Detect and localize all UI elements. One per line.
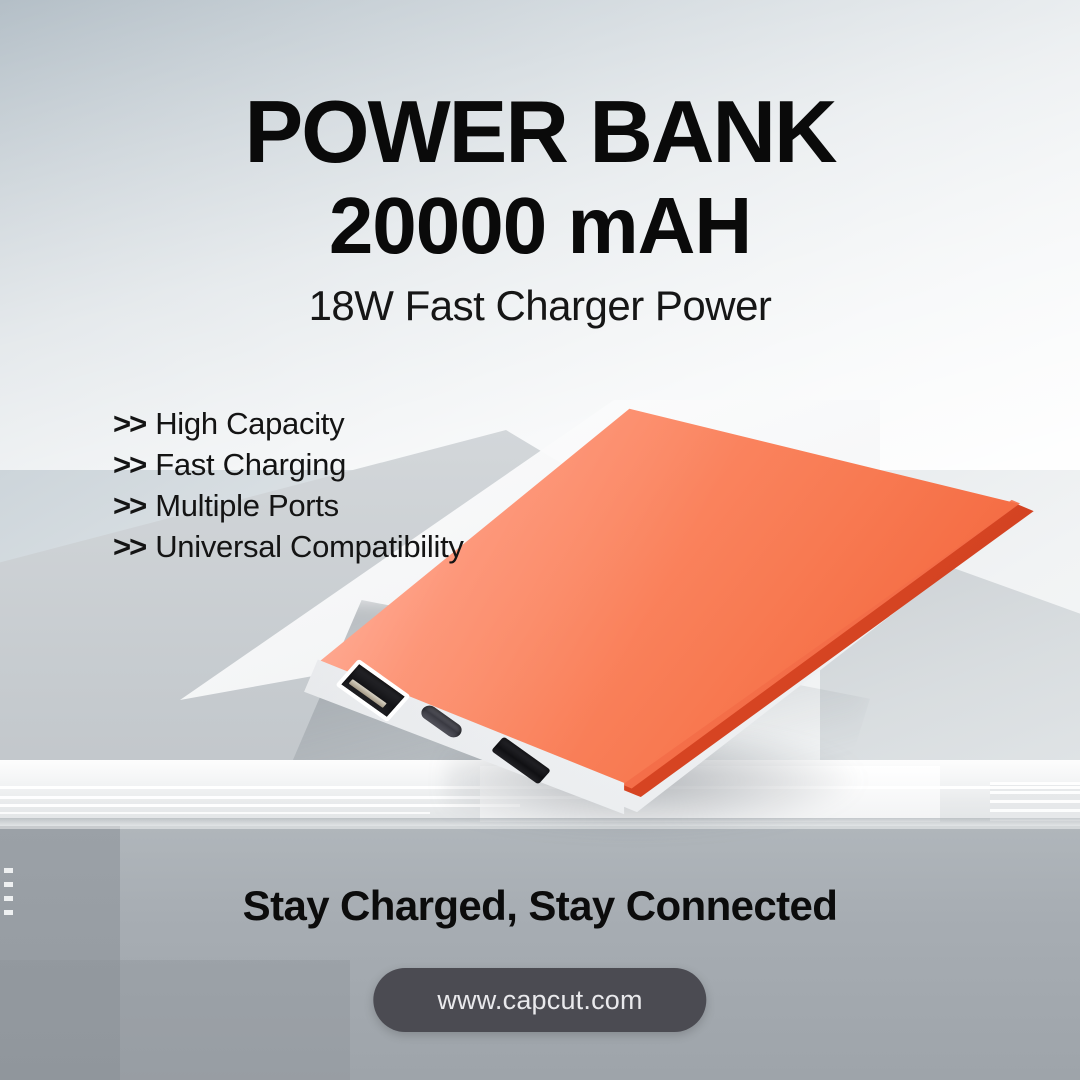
background-bottom-platform [0, 826, 1080, 1080]
background-platform-left-block [0, 960, 350, 1080]
list-item: >>Universal Compatibility [113, 531, 633, 562]
product-advertisement-poster: POWER BANK 20000 mAH 18W Fast Charger Po… [0, 0, 1080, 1080]
feature-label: Multiple Ports [155, 488, 339, 523]
feature-label: High Capacity [155, 406, 344, 441]
list-item: >>Fast Charging [113, 449, 633, 480]
chevron-marker-icon: >> [113, 447, 145, 482]
page-subtitle: 18W Fast Charger Power [0, 282, 1080, 330]
page-title-line-2: 20000 mAH [0, 184, 1080, 268]
list-item: >>Multiple Ports [113, 490, 633, 521]
chevron-marker-icon: >> [113, 406, 145, 441]
chevron-marker-icon: >> [113, 529, 145, 564]
feature-list: >>High Capacity >>Fast Charging >>Multip… [113, 408, 633, 572]
background-platform-left-band [0, 826, 120, 1080]
feature-label: Universal Compatibility [155, 529, 463, 564]
list-item: >>High Capacity [113, 408, 633, 439]
tagline-text: Stay Charged, Stay Connected [0, 882, 1080, 930]
chevron-marker-icon: >> [113, 488, 145, 523]
website-url-button[interactable]: www.capcut.com [373, 968, 706, 1032]
feature-label: Fast Charging [155, 447, 346, 482]
page-title-line-1: POWER BANK [0, 86, 1080, 178]
